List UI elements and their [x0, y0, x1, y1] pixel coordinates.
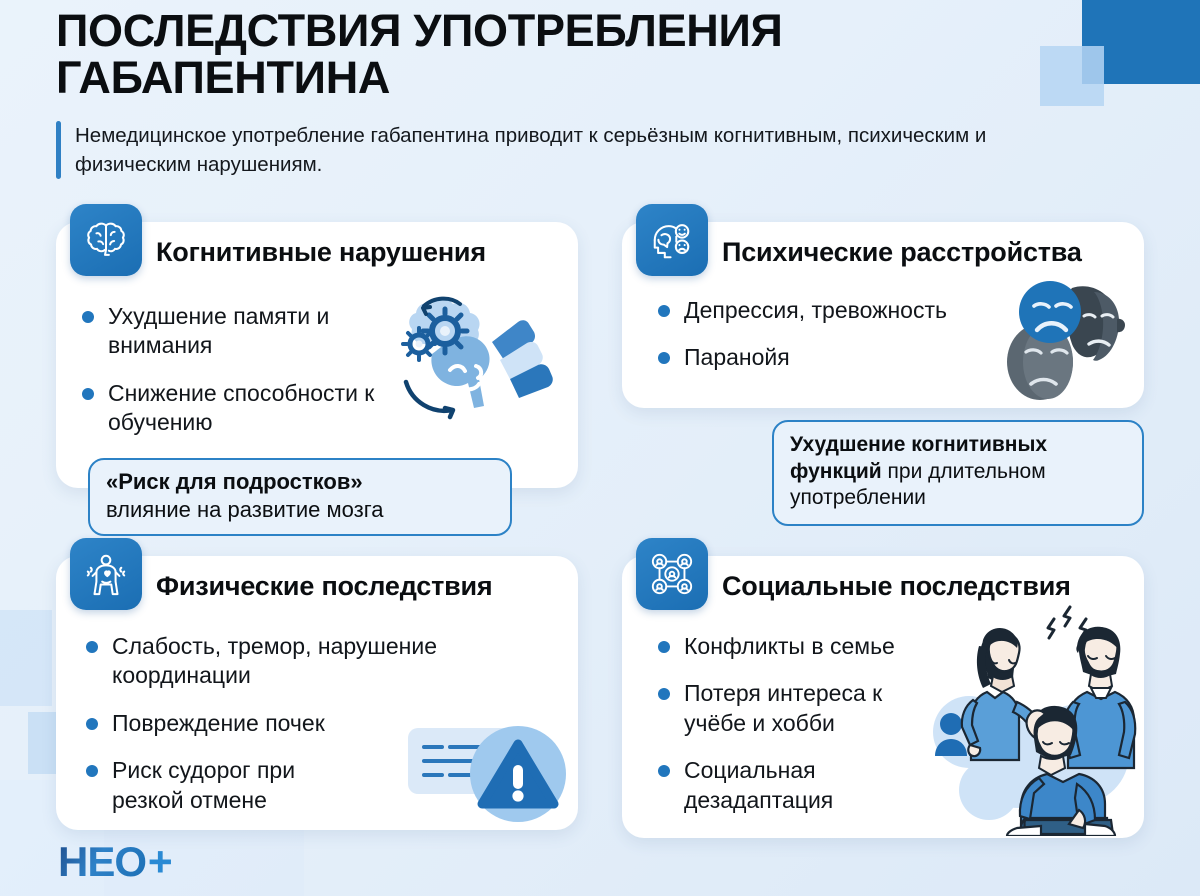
bullet-list: Депрессия, тревожность Паранойя [658, 296, 1124, 391]
list-item: Повреждение почек [86, 709, 558, 738]
subtitle-accent-bar [56, 121, 61, 179]
teen-risk-badge: «Риск для подростков» влияние на развити… [88, 458, 512, 536]
list-item: Ухудшение памяти и внимания [82, 302, 558, 361]
social-network-icon [636, 538, 708, 610]
bullet-text: Повреждение почек [112, 709, 325, 738]
bullet-dot-icon [658, 352, 670, 364]
family-conflict-illustration [929, 604, 1144, 836]
bullet-dot-icon [658, 765, 670, 777]
card-mental-disorders: Психические расстройства Депрессия, трев… [622, 222, 1144, 408]
card-title: Физические последствия [156, 572, 560, 602]
list-item: Риск судорог при резкой отмене [86, 756, 558, 815]
body-tremor-icon [70, 538, 142, 610]
list-item: Слабость, тремор, нарушение координации [86, 632, 558, 691]
card-physical-consequences: Физические последствия Слабость, тремор,… [56, 556, 578, 830]
brand-logo: НЕО + [58, 840, 172, 884]
logo-text: НЕО [58, 841, 146, 883]
bullet-text: Депрессия, тревожность [684, 296, 947, 325]
bullet-text: Социальная дезадаптация [684, 756, 914, 815]
bullet-dot-icon [82, 311, 94, 323]
list-item: Конфликты в семье [658, 632, 944, 661]
brain-icon [70, 204, 142, 276]
bullet-list: Ухудшение памяти и внимания Снижение спо… [82, 302, 558, 456]
bullet-text: Потеря интереса к учёбе и хобби [684, 679, 924, 738]
card-social-consequences: Социальные последствия Конфликты в семье… [622, 556, 1144, 838]
logo-plus-icon: + [148, 841, 172, 883]
bullet-dot-icon [86, 641, 98, 653]
page-title: ПОСЛЕДСТВИЯ УПОТРЕБЛЕНИЯ ГАБАПЕНТИНА [56, 8, 1056, 102]
card-title: Психические расстройства [722, 238, 1126, 268]
header: ПОСЛЕДСТВИЯ УПОТРЕБЛЕНИЯ ГАБАПЕНТИНА Нем… [56, 8, 1056, 179]
subtitle-block: Немедицинское употребление габапентина п… [56, 121, 1056, 179]
bullet-dot-icon [86, 765, 98, 777]
list-item: Потеря интереса к учёбе и хобби [658, 679, 944, 738]
callout-text: Ухудшение когнитивных функций при длител… [790, 432, 1126, 512]
list-item: Депрессия, тревожность [658, 296, 1124, 325]
bullet-dot-icon [658, 688, 670, 700]
card-title: Когнитивные нарушения [156, 238, 560, 268]
bullet-text: Конфликты в семье [684, 632, 895, 661]
badge-text: влияние на развитие мозга [106, 496, 494, 524]
list-item: Социальная дезадаптация [658, 756, 944, 815]
long-use-callout: Ухудшение когнитивных функций при длител… [772, 420, 1144, 526]
bullet-list: Слабость, тремор, нарушение координации … [86, 632, 558, 833]
decor-square-top-right-dark [1082, 0, 1200, 84]
list-item: Паранойя [658, 343, 1124, 372]
card-title: Социальные последствия [722, 572, 1126, 602]
bullet-dot-icon [658, 305, 670, 317]
page-subtitle: Немедицинское употребление габапентина п… [75, 121, 995, 179]
head-emotions-icon [636, 204, 708, 276]
bullet-text: Ухудшение памяти и внимания [108, 302, 408, 361]
bullet-text: Слабость, тремор, нарушение координации [112, 632, 482, 691]
bullet-text: Риск судорог при резкой отмене [112, 756, 372, 815]
bullet-dot-icon [86, 718, 98, 730]
list-item: Снижение способности к обучению [82, 379, 558, 438]
bullet-dot-icon [658, 641, 670, 653]
bullet-list: Конфликты в семье Потеря интереса к учёб… [658, 632, 944, 833]
bullet-text: Снижение способности к обучению [108, 379, 438, 438]
badge-strong-text: «Риск для подростков» [106, 469, 494, 496]
bullet-text: Паранойя [684, 343, 790, 372]
bullet-dot-icon [82, 388, 94, 400]
card-cognitive-disorders: Когнитивные нарушения Ухудшение памяти и… [56, 222, 578, 488]
decor-square-left-1 [0, 610, 52, 706]
